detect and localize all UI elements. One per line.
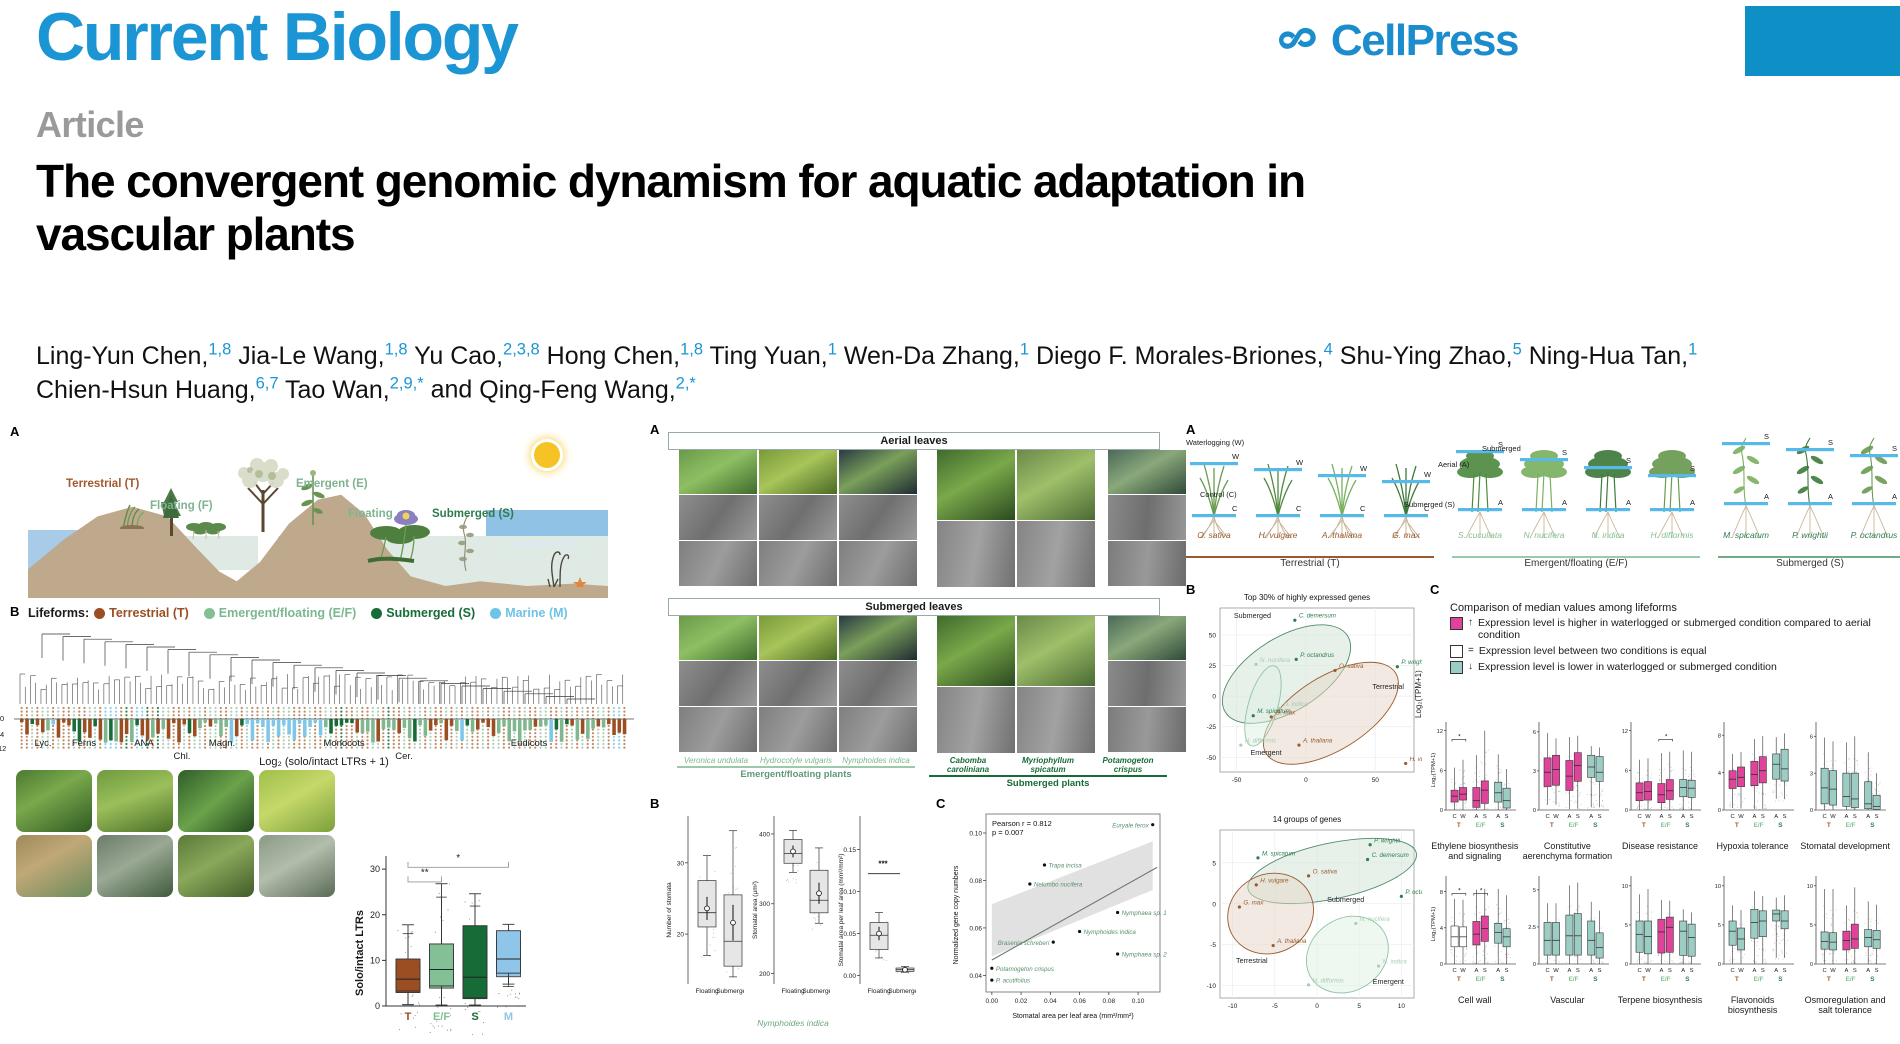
svg-text:Stomatal area (µm²): Stomatal area (µm²) xyxy=(752,881,759,939)
figure-1: A xyxy=(0,418,648,1044)
condition-top-label: W xyxy=(1424,470,1431,479)
svg-text:4: 4 xyxy=(1718,771,1721,777)
submerged-plant xyxy=(450,515,484,576)
svg-text:Submerged: Submerged xyxy=(716,988,744,995)
svg-text:C. demersum: C. demersum xyxy=(1372,852,1409,859)
condition-bottom-label: A xyxy=(1828,492,1833,501)
svg-text:Nymphaea sp. 2: Nymphaea sp. 2 xyxy=(1122,952,1168,959)
species-cell xyxy=(16,835,92,897)
f3c-chart-title: Osmoregulation and salt tolerance xyxy=(1800,995,1890,1015)
sem-abaxial xyxy=(679,541,757,586)
svg-text:H. difformis: H. difformis xyxy=(1313,977,1344,984)
svg-text:A. thaliana: A. thaliana xyxy=(1302,738,1333,745)
deciduous-tree xyxy=(228,456,298,532)
svg-text:-50: -50 xyxy=(1232,777,1242,784)
svg-text:8: 8 xyxy=(1718,733,1721,739)
legend-item-terrestrial: Terrestrial (T) xyxy=(94,606,189,620)
svg-text:-50: -50 xyxy=(1207,755,1217,762)
svg-text:0.10: 0.10 xyxy=(1132,998,1145,1005)
svg-text:12: 12 xyxy=(1622,729,1628,735)
svg-text:S: S xyxy=(1778,822,1783,829)
svg-text:C: C xyxy=(1453,814,1457,820)
sun-icon xyxy=(534,442,560,468)
condition-species-name: G. max xyxy=(1378,530,1434,540)
svg-text:0: 0 xyxy=(1315,1003,1319,1010)
side-label-adaxial xyxy=(1097,662,1106,708)
svg-text:A: A xyxy=(1660,814,1664,820)
svg-text:Emergent: Emergent xyxy=(1373,977,1404,986)
brand-color-block xyxy=(1745,6,1900,76)
svg-text:***: *** xyxy=(878,860,888,869)
habitat-label-seagrass: Seagrass (M) xyxy=(508,538,580,550)
condition-species-name: O. sativa xyxy=(1186,530,1242,540)
svg-text:P. octandrus: P. octandrus xyxy=(1405,889,1422,896)
condition-top-label: W xyxy=(1296,458,1303,467)
svg-text:A: A xyxy=(1496,814,1500,820)
svg-text:0: 0 xyxy=(1810,808,1813,814)
author-affiliation: 2,9,* xyxy=(390,374,424,392)
author-name: Yu Cao,2,3,8 xyxy=(414,342,540,370)
svg-text:S: S xyxy=(1597,814,1601,820)
sem-leaf-surface xyxy=(937,521,1015,587)
ef-group-title: Emergent/floating plants xyxy=(677,769,915,780)
condition-group: W C O. sativa W C H. vulgare xyxy=(1186,434,1434,569)
habitat-label-submerged: Submerged (S) xyxy=(432,508,514,520)
legend-swatch xyxy=(1450,617,1463,630)
legend-label-emergent: Emergent/floating (E/F) xyxy=(219,606,357,620)
author-list: Ling-Yun Chen,1,8 Jia-Le Wang,1,8 Yu Cao… xyxy=(36,340,1736,407)
sub-species-name: Potamogeton crispus xyxy=(1089,756,1167,774)
svg-text:0: 0 xyxy=(1440,808,1443,814)
legend-swatch xyxy=(1450,645,1463,658)
svg-text:T: T xyxy=(1735,822,1739,829)
condition-group-name: Submerged (S) xyxy=(1718,558,1900,569)
svg-text:A: A xyxy=(1589,814,1593,820)
svg-text:Brasenia schreberi: Brasenia schreberi xyxy=(998,940,1050,947)
f3c-chart: 0510CWTASE/FASS Terpene biosynthesis xyxy=(1615,870,1705,1015)
journal-logo-text: Current Biology xyxy=(36,0,517,76)
svg-text:300: 300 xyxy=(759,901,770,908)
side-label-adaxial xyxy=(668,662,677,708)
species-photo xyxy=(178,770,254,832)
ltr-boxplot: Solo/intact LTRs 0102030TE/FSM*** xyxy=(352,846,532,1036)
legend-swatch xyxy=(1450,661,1463,674)
svg-text:0.05: 0.05 xyxy=(843,931,856,938)
species-photo xyxy=(259,835,335,897)
leaf-column xyxy=(1017,450,1095,588)
author-affiliation: 1 xyxy=(1020,341,1029,359)
sub-species-name: Cabomba caroliniana xyxy=(929,756,1007,774)
condition-species: S A P. octandrus xyxy=(1846,434,1900,542)
condition-species-name: P. wrightii xyxy=(1782,530,1838,540)
condition-bottom-label: A xyxy=(1562,498,1567,507)
legend-item-emergent: Emergent/floating (E/F) xyxy=(204,606,357,620)
svg-text:P. wrightii: P. wrightii xyxy=(1401,659,1422,666)
svg-text:0.00: 0.00 xyxy=(843,973,856,980)
aerial-leaves-band-title: Aerial leaves xyxy=(668,432,1160,450)
condition-species-name: M. spicatum xyxy=(1718,530,1774,540)
svg-text:30: 30 xyxy=(677,860,685,867)
condition-top-label: S xyxy=(1764,432,1769,441)
svg-text:P. acutifolius: P. acutifolius xyxy=(996,978,1030,985)
annotation-submerged: Submerged xyxy=(1482,444,1521,453)
plant-photo xyxy=(839,450,917,494)
svg-text:6: 6 xyxy=(1532,730,1535,736)
lifeforms-legend-title: Lifeforms: xyxy=(28,606,89,620)
condition-group-name: Terrestrial (T) xyxy=(1186,558,1434,569)
sem-adaxial xyxy=(839,661,917,706)
habitat-label-emergent: Emergent (E) xyxy=(296,478,368,490)
svg-text:Euryale ferox: Euryale ferox xyxy=(1112,822,1149,829)
sem-abaxial xyxy=(1108,707,1186,752)
figure3-panelC-letter: C xyxy=(1430,582,1439,597)
svg-text:W: W xyxy=(1460,814,1466,820)
svg-text:0.04: 0.04 xyxy=(969,973,982,980)
figure3-panelC-legend: Comparison of median values among lifefo… xyxy=(1450,602,1882,674)
figure2-panelB-footer: Nymphoides indica xyxy=(662,1018,924,1028)
condition-species: S A N. indica xyxy=(1580,434,1636,542)
svg-text:N. indica: N. indica xyxy=(1383,959,1408,966)
author-name: Hong Chen,1,8 xyxy=(547,342,703,370)
species-photo xyxy=(259,770,335,832)
svg-text:H. vulgare: H. vulgare xyxy=(1260,877,1289,884)
f3c-chart: 0510CWTASE/FASS Flavonoids biosynthesis xyxy=(1708,870,1798,1015)
figure3-panelC-boxgrid-top: 0612CWT*ASE/FASSLog₂(TPM+1) Ethylene bio… xyxy=(1430,716,1890,866)
svg-text:S: S xyxy=(1483,814,1487,820)
condition-species: W C G. max xyxy=(1378,434,1434,542)
leaf-column xyxy=(759,450,837,588)
author-affiliation: 1,8 xyxy=(680,341,703,359)
ltr-axis-tick-4: 4 xyxy=(0,730,4,739)
svg-text:20: 20 xyxy=(677,932,685,939)
svg-text:P. wrightii: P. wrightii xyxy=(1374,837,1401,844)
legend-label-marine: Marine (M) xyxy=(505,606,568,620)
svg-text:N. nucifera: N. nucifera xyxy=(1260,657,1290,664)
plant-photo xyxy=(1108,450,1186,494)
svg-text:0: 0 xyxy=(375,1001,380,1011)
svg-text:E/F: E/F xyxy=(1568,822,1578,829)
svg-text:M. spicatum: M. spicatum xyxy=(1257,708,1290,715)
clade-magn: Magn. xyxy=(200,738,244,749)
species-cell xyxy=(97,770,173,832)
clade-monocots: Monocots xyxy=(254,738,434,749)
svg-text:50: 50 xyxy=(1372,777,1380,784)
author-name: Ling-Yun Chen,1,8 xyxy=(36,342,231,370)
sub-group-title: Submerged plants xyxy=(929,778,1167,789)
legend-item-submerged: Submerged (S) xyxy=(371,606,475,620)
author-affiliation: 1,8 xyxy=(208,341,231,359)
svg-text:S: S xyxy=(1505,814,1509,820)
side-label-abaxial xyxy=(1097,708,1106,754)
side-label-adaxial xyxy=(1097,496,1106,542)
svg-text:E/F: E/F xyxy=(1476,822,1486,829)
svg-text:5: 5 xyxy=(1357,1003,1361,1010)
svg-text:E/F: E/F xyxy=(1661,822,1671,829)
svg-text:O. sativa: O. sativa xyxy=(1313,868,1338,875)
svg-text:O. sativa: O. sativa xyxy=(1339,663,1364,670)
svg-text:Terrestrial: Terrestrial xyxy=(1372,682,1404,691)
condition-species: S A P. wrightii xyxy=(1782,434,1838,542)
f3c-chart: 048CWTASE/FASS Hypoxia tolerance xyxy=(1708,716,1798,861)
svg-text:-10: -10 xyxy=(1207,983,1217,990)
author-name: Shu-Ying Zhao,5 xyxy=(1340,342,1522,370)
sem-abaxial xyxy=(1108,541,1186,586)
author-affiliation: 1 xyxy=(828,341,837,359)
comparison-legend-rows: ↑ Expression level is higher in waterlog… xyxy=(1450,617,1882,674)
plant-photo xyxy=(937,450,1015,520)
svg-text:6: 6 xyxy=(1810,734,1813,740)
side-label-adaxial xyxy=(668,496,677,542)
svg-text:T: T xyxy=(405,1011,412,1023)
figures-region: A xyxy=(0,418,1900,1044)
plant-photo xyxy=(1017,616,1095,686)
species-row xyxy=(16,835,334,897)
author-name: Wen-Da Zhang,1 xyxy=(844,342,1029,370)
species-cell xyxy=(178,835,254,897)
author-affiliation: 6,7 xyxy=(256,374,279,392)
f2b-chart: 0.000.050.100.15FloatingSubmerged***Stom… xyxy=(834,810,916,1015)
svg-text:20: 20 xyxy=(370,910,380,920)
condition-top-label: W xyxy=(1232,452,1239,461)
svg-text:Submerged: Submerged xyxy=(802,988,830,995)
svg-text:C: C xyxy=(1730,814,1734,820)
species-photo xyxy=(16,835,92,897)
conifer-plant xyxy=(158,488,184,536)
submerged-leaves-grid xyxy=(668,616,1160,754)
f3c-chart: 048CWT*ASE/F*ASSLog₂(TPM+1) Cell wall xyxy=(1430,870,1520,1015)
author-affiliation: 1 xyxy=(1688,341,1697,359)
sem-adaxial xyxy=(1108,661,1186,706)
f3c-chart-title: Constitutive aerenchyma formation xyxy=(1523,841,1613,861)
sem-adaxial xyxy=(839,495,917,540)
condition-bottom-label: A xyxy=(1626,498,1631,507)
ltr-axis-tick-0: 0 xyxy=(0,714,4,723)
svg-text:0.04: 0.04 xyxy=(1044,998,1057,1005)
condition-species-name: N. nucifera xyxy=(1516,530,1572,540)
side-label-leaf-surface xyxy=(926,522,935,588)
svg-text:0: 0 xyxy=(1212,901,1216,908)
seagrass-plant xyxy=(538,543,586,592)
condition-bottom-label: C xyxy=(1296,504,1301,513)
sem-adaxial xyxy=(679,661,757,706)
svg-text:25: 25 xyxy=(1209,663,1217,670)
svg-text:0.08: 0.08 xyxy=(969,878,982,885)
side-label-abaxial xyxy=(668,542,677,588)
sem-adaxial xyxy=(759,495,837,540)
svg-text:6: 6 xyxy=(1625,769,1628,775)
habitat-cross-section-diagram: Terrestrial (T) Floating (F) Emergent (E… xyxy=(18,438,618,598)
figure-3: A W C O. sativa xyxy=(1178,418,1900,1044)
svg-text:0: 0 xyxy=(1532,808,1535,814)
svg-text:Nelumbo nucifera: Nelumbo nucifera xyxy=(1034,882,1083,889)
condition-top-label: S xyxy=(1828,438,1833,447)
svg-text:M. spicatum: M. spicatum xyxy=(1262,850,1295,857)
figure1-panelA-letter: A xyxy=(10,424,19,439)
condition-species: S A H. difformis xyxy=(1644,434,1700,542)
ef-species-name: Veronica undulata xyxy=(677,756,755,765)
figure1-panelB-letter: B xyxy=(10,604,19,619)
sem-adaxial xyxy=(759,661,837,706)
f3c-chart: 0510CWTASE/FASS Osmoregulation and salt … xyxy=(1800,870,1890,1015)
svg-text:0: 0 xyxy=(1625,808,1628,814)
species-photo xyxy=(16,770,92,832)
svg-text:S: S xyxy=(1668,814,1672,820)
svg-text:0: 0 xyxy=(1718,808,1721,814)
habitat-label-terrestrial: Terrestrial (T) xyxy=(66,478,139,490)
plant-photo xyxy=(839,616,917,660)
plant-photo xyxy=(1017,450,1095,520)
svg-text:3: 3 xyxy=(1532,769,1535,775)
svg-text:Potamogeton crispus: Potamogeton crispus xyxy=(996,966,1054,973)
clade-eudicots: Eudicots xyxy=(434,738,624,749)
svg-text:W: W xyxy=(1738,814,1744,820)
svg-text:Log₂(TPM+1): Log₂(TPM+1) xyxy=(1431,753,1437,788)
svg-text:0.15: 0.15 xyxy=(843,847,856,854)
author-name: Ning-Hua Tan,1 xyxy=(1529,342,1698,370)
svg-text:Trapa incisa: Trapa incisa xyxy=(1048,863,1082,870)
svg-text:H. vulgare: H. vulgare xyxy=(1410,756,1422,763)
condition-species-name: S. cucullata xyxy=(1452,530,1508,540)
svg-text:0.02: 0.02 xyxy=(1015,998,1028,1005)
svg-text:p = 0.007: p = 0.007 xyxy=(992,828,1024,837)
legend-label-terrestrial: Terrestrial (T) xyxy=(109,606,189,620)
floating-plant-left xyxy=(186,521,230,546)
condition-top-label: W xyxy=(1360,464,1367,473)
figure2-panelC-scatter: Euryale feroxTrapa incisaNelumbo nucifer… xyxy=(946,804,1168,1026)
ef-species-name: Nymphoides indica xyxy=(837,756,915,765)
author-affiliation: 4 xyxy=(1324,341,1333,359)
svg-text:Submerged: Submerged xyxy=(1327,895,1364,904)
svg-text:0.00: 0.00 xyxy=(986,998,999,1005)
legend-arrow: ↓ xyxy=(1468,661,1473,673)
leaf-column xyxy=(839,450,917,588)
sem-leaf-surface xyxy=(1017,521,1095,587)
leaf-column xyxy=(937,616,1015,754)
svg-text:H. difformis: H. difformis xyxy=(1245,738,1276,745)
author-affiliation: 5 xyxy=(1513,341,1522,359)
condition-group-name: Emergent/floating (E/F) xyxy=(1452,558,1700,569)
condition-bottom-label: A xyxy=(1690,498,1695,507)
f3c-chart-title: Flavonoids biosynthesis xyxy=(1708,995,1798,1015)
svg-text:T: T xyxy=(1457,822,1461,829)
comparison-legend-title: Comparison of median values among lifefo… xyxy=(1450,602,1882,614)
species-photo xyxy=(178,835,254,897)
side-label-abaxial xyxy=(1097,542,1106,588)
clade-ana: ANA xyxy=(124,738,164,749)
figure2-panelB-charts: 2030FloatingSubmergedNumber of stomata 2… xyxy=(662,810,924,1024)
legend-row: ↑ Expression level is higher in waterlog… xyxy=(1450,617,1882,642)
leaf-column xyxy=(679,616,757,754)
condition-species-name: P. octandrus xyxy=(1846,530,1900,540)
grass-tuft xyxy=(118,503,148,534)
article-type-kicker: Article xyxy=(36,104,144,146)
svg-text:0.10: 0.10 xyxy=(969,830,982,837)
page-header: Current Biology CellPress Article The co… xyxy=(0,0,1900,415)
figure-2: A Aerial leaves xyxy=(648,418,1176,1044)
svg-text:30: 30 xyxy=(370,864,380,874)
species-cell xyxy=(178,770,254,832)
species-photo xyxy=(97,835,173,897)
svg-text:S: S xyxy=(1685,822,1690,829)
condition-species-name: H. difformis xyxy=(1644,530,1700,540)
author-affiliation: 2,3,8 xyxy=(503,341,540,359)
author-name: Qing-Feng Wang,2,* xyxy=(479,376,696,404)
legend-item-marine: Marine (M) xyxy=(490,606,568,620)
svg-text:Top 30% of highly expressed ge: Top 30% of highly expressed genes xyxy=(1244,593,1370,602)
ltr-boxplot-svg: 0102030TE/FSM*** xyxy=(352,846,532,1036)
side-label-leaf-surface xyxy=(926,688,935,754)
clade-lyc: Lyc. xyxy=(26,738,60,749)
sem-abaxial xyxy=(759,707,837,752)
condition-species-name: H. vulgare xyxy=(1250,530,1306,540)
svg-text:0.06: 0.06 xyxy=(969,925,982,932)
svg-text:0: 0 xyxy=(1212,694,1216,701)
species-cell xyxy=(259,835,335,897)
figure2-panelA-letter: A xyxy=(650,422,659,437)
leaf-column xyxy=(759,616,837,754)
leaf-column xyxy=(679,450,757,588)
svg-text:Pearson r = 0.812: Pearson r = 0.812 xyxy=(992,819,1052,828)
figure3-panelC-ylabel-shared: Log₂(TPM+1) xyxy=(1414,670,1423,718)
sem-leaf-surface xyxy=(1017,687,1095,753)
svg-text:S: S xyxy=(1593,822,1598,829)
plant-photo xyxy=(679,450,757,494)
page-title: The convergent genomic dynamism for aqua… xyxy=(36,155,1356,262)
plant-photo xyxy=(1108,616,1186,660)
svg-text:0.06: 0.06 xyxy=(1073,998,1086,1005)
ltr-axis-tick-12: 12 xyxy=(0,744,6,753)
habitat-label-floating-2: Floating xyxy=(348,508,393,520)
clade-ferns: Ferns xyxy=(60,738,108,749)
species-photo-grid xyxy=(16,770,334,900)
svg-text:W: W xyxy=(1645,814,1651,820)
legend-row: = Expression level between two condition… xyxy=(1450,645,1882,658)
svg-text:Stomatal area per leaf area (m: Stomatal area per leaf area (mm²/mm²) xyxy=(1012,1013,1133,1020)
svg-text:14 groups of genes: 14 groups of genes xyxy=(1273,815,1342,824)
condition-top-label: S xyxy=(1892,444,1897,453)
svg-text:E/F: E/F xyxy=(433,1011,450,1023)
condition-top-label: S xyxy=(1690,464,1695,473)
svg-text:200: 200 xyxy=(759,971,770,978)
svg-text:A. thaliana: A. thaliana xyxy=(1276,938,1307,945)
svg-text:0.08: 0.08 xyxy=(1102,998,1115,1005)
leaf-column xyxy=(839,616,917,754)
svg-text:S: S xyxy=(1761,814,1765,820)
legend-arrow: = xyxy=(1468,645,1474,657)
svg-text:G. max: G. max xyxy=(1243,900,1264,907)
sem-abaxial xyxy=(679,707,757,752)
aerial-leaves-grid xyxy=(668,450,1160,588)
condition-species: W C A. thaliana xyxy=(1314,434,1370,542)
legend-label-submerged: Submerged (S) xyxy=(386,606,475,620)
svg-text:S: S xyxy=(1575,814,1579,820)
svg-text:A: A xyxy=(1681,814,1685,820)
svg-text:A: A xyxy=(1774,814,1778,820)
svg-text:Submerged: Submerged xyxy=(1234,611,1271,620)
svg-text:-10: -10 xyxy=(1228,1003,1238,1010)
svg-text:Stomatal area per leaf area (m: Stomatal area per leaf area (mm²/mm²) xyxy=(838,854,845,967)
svg-text:0.10: 0.10 xyxy=(843,889,856,896)
svg-text:10: 10 xyxy=(1398,1003,1406,1010)
sub-species-name: Myriophyllum spicatum xyxy=(1009,756,1087,774)
leaf-column xyxy=(1017,616,1095,754)
svg-text:C: C xyxy=(1545,814,1549,820)
svg-text:S: S xyxy=(471,1011,478,1023)
author-name: Tao Wan,2,9,* xyxy=(285,376,424,404)
svg-text:Nymphoides indica: Nymphoides indica xyxy=(1084,929,1137,936)
author-name: Chien-Hsun Huang,6,7 xyxy=(36,376,279,404)
author-name: Diego F. Morales-Briones,4 xyxy=(1036,342,1333,370)
